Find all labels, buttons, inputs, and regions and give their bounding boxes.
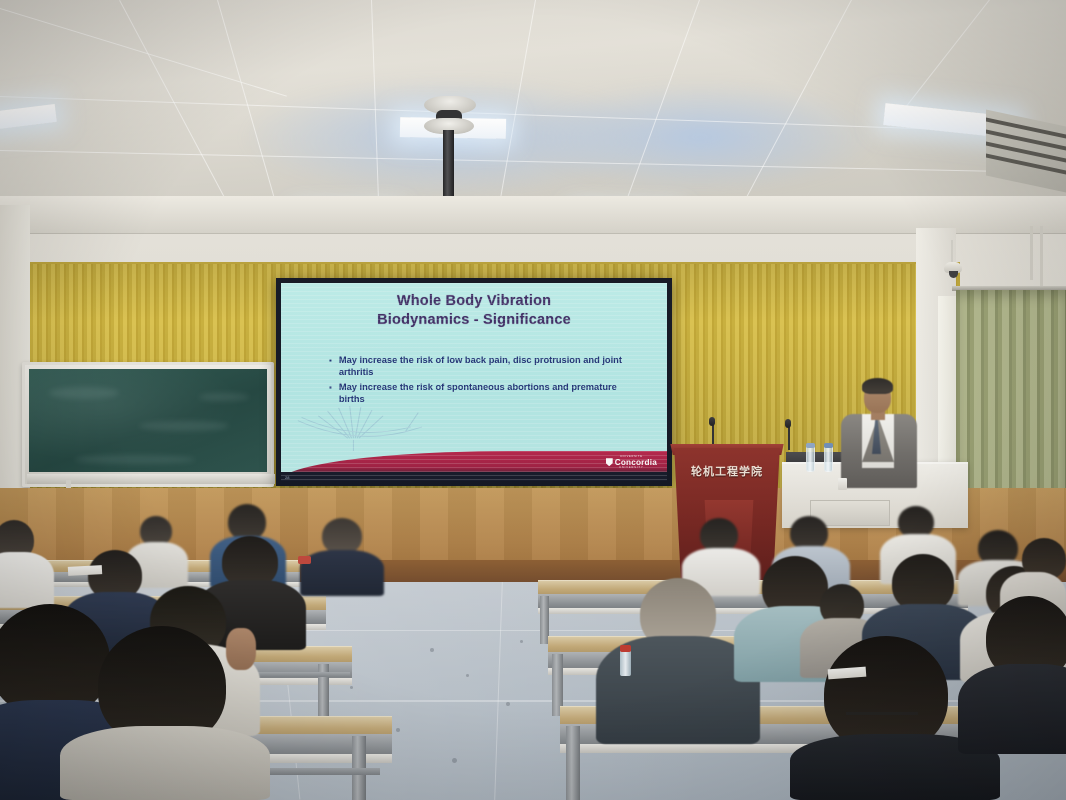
concordia-logo: UNIVERSITE Concordia UNIVERSITY (606, 456, 657, 470)
bottle-cap (620, 645, 631, 652)
bottle-cap (298, 556, 311, 564)
slide-decoration-starburst (296, 403, 481, 451)
ceiling-light-left (0, 104, 57, 130)
slide-page-number: 28 (285, 475, 289, 480)
logo-bottom-text: UNIVERSITY (606, 467, 657, 470)
microphone-head (785, 419, 791, 428)
bullet-marker-icon: ▪ (329, 382, 332, 405)
paper-sheet (68, 565, 102, 576)
microphone-stem (788, 426, 790, 450)
slide-bullet-item: ▪ May increase the risk of low back pain… (329, 355, 645, 378)
logo-top-text: UNIVERSITE (606, 456, 657, 459)
lecture-hall-scene: Whole Body Vibration Biodynamics - Signi… (0, 0, 1066, 800)
camera-mount (951, 240, 953, 264)
slide-title: Whole Body Vibration Biodynamics - Signi… (281, 292, 667, 329)
chalk-tray (27, 474, 275, 484)
wall-beam (0, 196, 1066, 234)
cup (838, 478, 847, 490)
slide-content: Whole Body Vibration Biodynamics - Signi… (281, 283, 667, 481)
slide-bullet-text: May increase the risk of low back pain, … (339, 355, 645, 378)
ac-vent (986, 109, 1066, 192)
projection-screen: Whole Body Vibration Biodynamics - Signi… (276, 278, 672, 486)
slide-bullet-text: May increase the risk of spontaneous abo… (339, 382, 645, 405)
bullet-marker-icon: ▪ (329, 355, 332, 378)
water-bottle (824, 446, 833, 472)
slide-bullet-list: ▪ May increase the risk of low back pain… (329, 355, 645, 410)
water-bottle (806, 446, 815, 472)
slide-footer-bar (281, 472, 667, 481)
slide-bullet-item: ▪ May increase the risk of spontaneous a… (329, 382, 645, 405)
water-bottle (620, 650, 631, 676)
shield-icon (606, 458, 613, 466)
microphone-head (709, 417, 715, 426)
chalkboard (22, 362, 274, 487)
glasses-icon (846, 712, 918, 717)
glasses-icon (865, 392, 889, 397)
podium-sign: 轮机工程学院 (678, 463, 776, 479)
